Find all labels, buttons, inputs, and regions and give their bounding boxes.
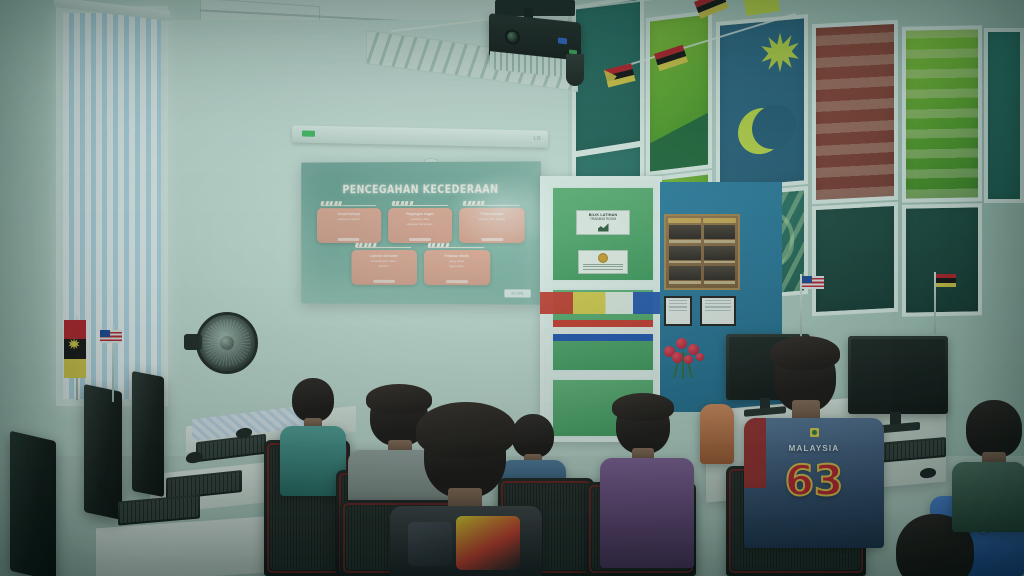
slide-card-row-2: Laporan kecuaian kepada guru atau warden…: [317, 250, 525, 286]
hair: [416, 402, 516, 458]
malaysia-flag-desk: [802, 276, 824, 289]
door-sign: BILIK LATIHAN TRAINING ROOM: [576, 210, 630, 235]
screen-status-led: [302, 131, 315, 137]
slide-card-line3: selepas bersenam: [391, 222, 450, 227]
torso: [390, 506, 542, 576]
framed-certificate: [664, 296, 692, 326]
hair: [612, 393, 674, 421]
jersey-number: 63: [744, 460, 884, 502]
hair: [366, 384, 432, 414]
torso: MALAYSIA 63: [744, 418, 884, 548]
malaysia-flag-desk: [100, 330, 122, 343]
ceiling-speaker: [566, 54, 584, 86]
head: [512, 414, 554, 458]
projector-mount-plate: [495, 0, 575, 16]
jersey-country-text: MALAYSIA: [744, 444, 884, 453]
torso: [952, 462, 1024, 532]
door-sign-line2: TRAINING ROOM: [580, 217, 626, 221]
window-mural-green: [646, 10, 712, 176]
fan-hub: [220, 336, 234, 350]
slide-card: Kenali bahaya sebelum aktiviti: [317, 208, 381, 243]
malaysia-star-icon: [760, 31, 800, 74]
photo-notice-board: [664, 214, 740, 290]
malaysia-crescent-icon: [738, 106, 784, 156]
slide-card-line2: sebelum aktiviti: [320, 217, 378, 222]
monitor-left-rear[interactable]: [132, 371, 164, 497]
door-ribbon-decor: [553, 320, 653, 341]
projector-port: [558, 37, 567, 44]
board-photo: [669, 225, 701, 239]
screen-brand-label: LG: [534, 135, 541, 141]
window-mural-crescent-star: [716, 14, 808, 192]
slide-card-grid: Kenali bahaya sebelum aktiviti Regangan …: [317, 208, 525, 293]
projection-screen[interactable]: PENCEGAHAN KECEDERAAN Kenali bahaya sebe…: [301, 161, 541, 304]
head: [292, 378, 334, 422]
sarawak-flag-desk: [64, 320, 86, 378]
sarawak-flag-desk: [936, 274, 956, 287]
board-photo: [669, 246, 701, 260]
monitor-right-2[interactable]: [848, 336, 948, 414]
door-color-band: [540, 292, 666, 314]
slide-card-line3: digunakan: [426, 264, 486, 269]
training-room-icon: [598, 223, 609, 232]
slide-title: PENCEGAHAN KECEDERAAN: [311, 182, 532, 197]
fan-cage: [196, 312, 258, 374]
wall-mounted-fan[interactable]: [196, 312, 258, 374]
slide-card-line2: sesuai dan selesa: [462, 217, 521, 222]
shirt-graphic: [408, 522, 452, 566]
projector-lens-icon: [505, 29, 520, 46]
slide-card-line3: warden: [354, 263, 414, 268]
slide-card: Regangan ringan sebelum dan selepas bers…: [388, 208, 453, 243]
door-notice: [578, 250, 628, 274]
monitor-left-front[interactable]: [10, 431, 56, 576]
torso: [700, 404, 734, 464]
torso: [600, 458, 694, 568]
red-roses-bouquet: [656, 338, 712, 382]
hair: [770, 336, 840, 370]
board-photo: [669, 266, 701, 280]
slide-card: Pakai pakaian sesuai dan selesa: [459, 208, 524, 243]
board-photo: [704, 266, 736, 280]
slide-footer-badge: SLIDE: [504, 289, 530, 297]
framed-chart: [700, 296, 736, 326]
slide-card: Laporan kecuaian kepada guru atau warden: [351, 250, 417, 285]
jersey-badge-icon: [810, 428, 819, 437]
board-photo: [704, 225, 736, 239]
monitor-left-mid[interactable]: [84, 384, 122, 520]
head: [966, 400, 1022, 458]
board-photo: [704, 246, 736, 260]
shirt-graphic: [456, 516, 520, 570]
slide-card: Pastikan teknik yang betul digunakan: [423, 250, 489, 285]
classroom-photo: LG PENCEGAHAN KECEDERAAN Kenali bahaya s…: [0, 0, 1024, 576]
window-mural-red: [812, 20, 898, 205]
official-seal-icon: [598, 253, 608, 263]
slide-card-row-1: Kenali bahaya sebelum aktiviti Regangan …: [317, 208, 525, 243]
